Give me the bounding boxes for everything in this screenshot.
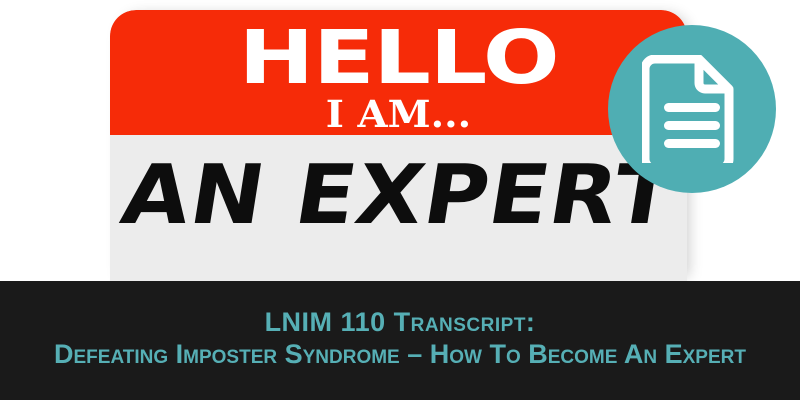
badge-name-text: AN EXPERT: [110, 141, 687, 251]
caption-title: LNIM 110 Transcript:: [0, 307, 800, 337]
badge-header: HELLO I AM...: [110, 10, 687, 135]
badge-greeting-text: HELLO: [110, 21, 687, 95]
caption-banner: LNIM 110 Transcript: Defeating Imposter …: [0, 281, 800, 400]
promo-banner-image: HELLO I AM... AN EXPERT LNIM 110 Transcr…: [0, 0, 800, 400]
badge-body: AN EXPERT: [110, 135, 687, 281]
hello-name-badge: HELLO I AM... AN EXPERT: [110, 10, 687, 281]
document-medallion: [608, 25, 776, 193]
badge-subgreeting-text: I AM...: [110, 96, 687, 133]
caption-subtitle: Defeating Imposter Syndrome – How To Bec…: [0, 339, 800, 369]
